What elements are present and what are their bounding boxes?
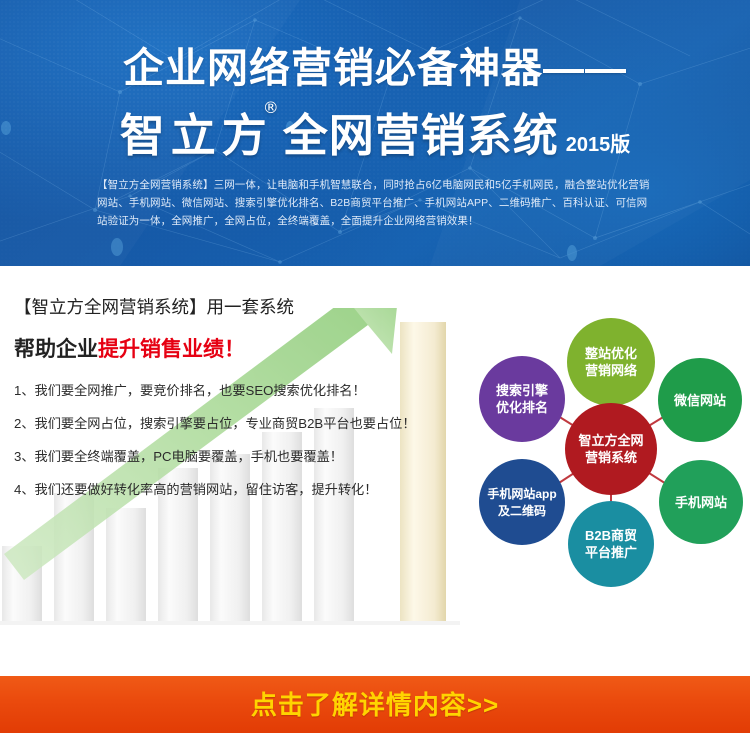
list-item: 2、我们要全网占位，搜索引擎要占位，专业商贸B2B平台也要占位！ xyxy=(14,417,474,430)
brand-lockup: 智立方 ® 全网营销系统 2015版 xyxy=(0,102,750,158)
node-mobile-site[interactable]: 手机网站 xyxy=(659,460,743,544)
promo-page: 企业网络营销必备神器—— 智立方 ® 全网营销系统 2015版 【智立方全网营销… xyxy=(0,0,750,733)
copy-headline-highlight: 提升销售业绩！ xyxy=(98,338,245,361)
node-wechat-site[interactable]: 微信网站 xyxy=(658,358,742,442)
list-item: 1、我们要全网推广，要竞价排名，也要SEO搜索优化排名！ xyxy=(14,384,474,397)
brand-logotype-text: 智立方 xyxy=(120,109,273,162)
node-b2b-platform[interactable]: B2B商贸 平台推广 xyxy=(568,501,654,587)
node-seo-ranking[interactable]: 搜索引擎 优化排名 xyxy=(479,356,565,442)
brand-logotype: 智立方 ® xyxy=(120,113,273,158)
benefit-list: 1、我们要全网推广，要竞价排名，也要SEO搜索优化排名！ 2、我们要全网占位，搜… xyxy=(14,384,474,497)
node-b2b-platform-label-2: 平台推广 xyxy=(585,545,637,560)
hero-description: 【智立方全网营销系统】三网一体，让电脑和手机智慧联合，同时抢占6亿电脑网民和5亿… xyxy=(97,176,653,230)
cta-label: 点击了解详情内容>> xyxy=(251,692,499,718)
diagram-center-label-1: 智立方全网 xyxy=(578,433,643,448)
node-site-optimization[interactable]: 整站优化 营销网络 xyxy=(567,318,655,406)
node-seo-ranking-label-1: 搜索引擎 xyxy=(496,383,548,398)
node-mobile-app-qr[interactable]: 手机网站app 及二维码 xyxy=(479,459,565,545)
hero-content: 企业网络营销必备神器—— 智立方 ® 全网营销系统 2015版 【智立方全网营销… xyxy=(0,0,750,230)
node-mobile-app-qr-label-2: 及二维码 xyxy=(498,503,546,518)
node-wechat-site-label: 微信网站 xyxy=(673,393,726,408)
diagram-center-hub[interactable]: 智立方全网 营销系统 xyxy=(565,403,657,495)
marketing-hub-diagram: 整站优化 营销网络 微信网站 手机网站 B2B商贸 平台推广 xyxy=(472,306,750,596)
node-site-optimization-label-2: 营销网络 xyxy=(585,363,637,378)
hero-banner: 企业网络营销必备神器—— 智立方 ® 全网营销系统 2015版 【智立方全网营销… xyxy=(0,0,750,266)
node-mobile-app-qr-label-1: 手机网站app xyxy=(487,486,556,501)
diagram-center-label-2: 营销系统 xyxy=(585,450,637,465)
node-mobile-site-label: 手机网站 xyxy=(675,495,727,510)
copy-headline-prefix: 帮助企业 xyxy=(14,338,98,361)
node-b2b-platform-label-1: B2B商贸 xyxy=(585,528,637,543)
list-item: 4、我们还要做好转化率高的营销网站，留住访客，提升转化！ xyxy=(14,483,474,496)
cta-banner-button[interactable]: 点击了解详情内容>> xyxy=(0,676,750,733)
node-site-optimization-label-1: 整站优化 xyxy=(584,346,637,361)
list-item: 3、我们要全终端覆盖，PC电脑要覆盖，手机也要覆盖！ xyxy=(14,450,474,463)
hero-headline: 企业网络营销必备神器—— xyxy=(0,48,750,89)
version-badge: 2015版 xyxy=(566,135,631,158)
copy-headline: 帮助企业提升销售业绩！ xyxy=(14,339,474,360)
node-seo-ranking-label-2: 优化排名 xyxy=(496,400,548,415)
registered-trademark-icon: ® xyxy=(263,100,279,116)
marketing-copy: 【智立方全网营销系统】用一套系统 帮助企业提升销售业绩！ 1、我们要全网推广，要… xyxy=(14,299,474,516)
brand-suffix: 全网营销系统 xyxy=(283,113,559,158)
copy-subtitle: 【智立方全网营销系统】用一套系统 xyxy=(14,299,474,317)
